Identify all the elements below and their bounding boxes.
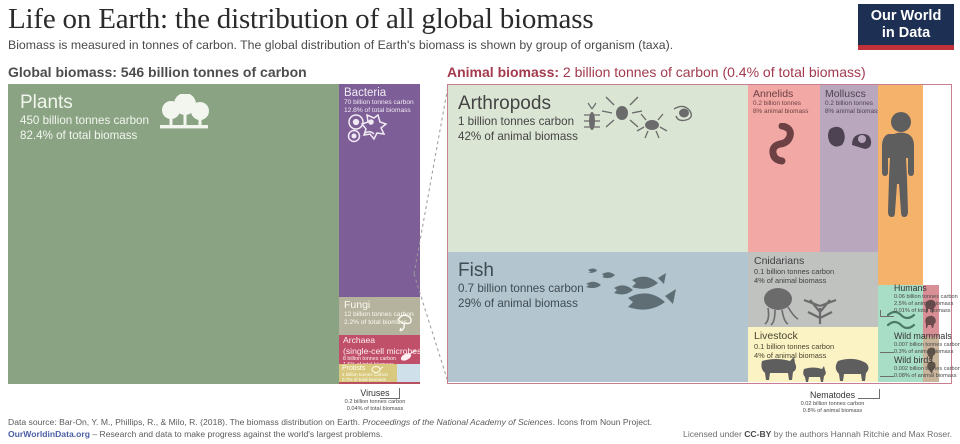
callout-share2-humans: 0.01% of total biomass [894,308,951,314]
global-biomass-heading: Global biomass: 546 billion tonnes of ca… [8,64,307,80]
treemap-cell-viruses-bar [339,382,420,384]
animal-heading-bold: Animal biomass: [447,64,559,80]
callout-share-viruses: 0.04% of total biomass [347,406,404,412]
animal-biomass-heading: Animal biomass: 2 billion tonnes of carb… [447,64,866,80]
footer-icons-credit: . Icons from Noun Project. [553,417,652,427]
owid-website-link[interactable]: OurWorldinData.org [8,429,90,439]
cell-label-protists: Protists [342,365,397,372]
global-biomass-treemap: Plants 450 billion tonnes carbon 82.4% o… [8,84,420,384]
footer-tagline: – Research and data to make progress aga… [90,429,383,439]
callout-viruses: Viruses 0.2 billion tonnes carbon 0.04% … [300,388,450,413]
callout-label-wild-mammals: Wild mammals [894,331,960,342]
leader-line-wild-birds [880,376,894,377]
treemap-cell-protists[interactable]: Protists 4 billion tonnes carbon 0.7% of… [339,364,397,382]
callout-wild-birds: Wild birds 0.002 billion tonnes carbon 0… [894,355,960,380]
treemap-cell-fish[interactable]: Fish 0.7 billion tonnes carbon 29% of an… [448,252,748,382]
callout-share-humans: 2.5% of animal biomass [894,301,953,307]
arthropods-icon [576,93,696,143]
treemap-cell-livestock[interactable]: Livestock 0.1 billion tonnes carbon 4% o… [748,327,878,382]
cell-label-archaea: Archaea [343,336,420,346]
protist-icon [371,365,384,374]
cell-share-molluscs: 8% animal biomass [825,108,878,116]
treemap-cell-archaea[interactable]: Archaea (single-cell microbes) 8 billion… [339,335,420,364]
footer-source-line: Data source: Bar-On, Y. M., Phillips, R.… [8,416,952,428]
footer-journal-name: Proceedings of the National Academy of S… [362,417,552,427]
callout-label-humans: Humans [894,283,958,294]
worm-icon [762,123,802,167]
cell-label-cnidarians: Cnidarians [754,255,878,267]
callout-value-viruses: 0.2 billion tonnes carbon [345,399,406,405]
leader-line-humans-h [880,316,894,317]
logo-line-1: Our World [871,8,942,24]
livestock-icon [756,353,874,382]
callout-wild-mammals: Wild mammals 0.007 billion tonnes carbon… [894,331,960,356]
cell-label-livestock: Livestock [754,330,878,342]
treemap-cell-cnidarians[interactable]: Cnidarians 0.1 billion tonnes carbon 4% … [748,252,878,327]
license-type[interactable]: CC-BY [744,429,771,439]
callout-humans: Humans 0.06 billion tonnes carbon 2.5% o… [894,283,958,314]
license-authors: by the authors Hannah Ritchie and Max Ro… [771,429,952,439]
leader-line-humans-v [880,310,881,317]
mollusc-snail-icon [826,123,874,151]
treemap-cell-plants[interactable]: Plants 450 billion tonnes carbon 82.4% o… [8,84,339,384]
leader-line-nematodes-h [858,398,880,399]
footer-license: Licensed under CC-BY by the authors Hann… [683,428,952,440]
cell-label-bacteria: Bacteria [344,87,420,99]
page-subtitle: Biomass is measured in tonnes of carbon.… [8,37,952,53]
callout-label-viruses: Viruses [300,388,450,399]
callout-share-wild-birds: 0.08% of animal biomass [894,373,957,379]
cell-value-livestock: 0.1 billion tonnes carbon [754,342,878,351]
page-title: Life on Earth: the distribution of all g… [8,2,952,36]
leader-line-viruses-h [380,398,400,399]
cell-value-cnidarians: 0.1 billion tonnes carbon [754,267,878,276]
callout-label-wild-birds: Wild birds [894,355,960,366]
human-figure-icon [882,109,920,239]
treemap-cell-humans[interactable] [878,85,923,285]
license-prefix: Licensed under [683,429,744,439]
callout-share-nematodes: 0.8% of animal biomass [803,408,862,414]
callout-value-wild-mammals: 0.007 billion tonnes carbon [894,342,960,348]
our-world-in-data-logo[interactable]: Our World in Data [858,4,954,50]
cell-value-molluscs: 0.2 billion tonnes [825,100,878,108]
callout-label-nematodes: Nematodes [745,390,920,401]
header: Life on Earth: the distribution of all g… [8,2,952,62]
callout-value-wild-birds: 0.002 billion tonnes carbon [894,366,960,372]
cell-share-cnidarians: 4% of animal biomass [754,276,878,285]
callout-share-wild-mammals: 0.3% of animal biomass [894,349,953,355]
footer: Data source: Bar-On, Y. M., Phillips, R.… [8,416,952,440]
animal-biomass-treemap: Arthropods 1 billion tonnes carbon 42% o… [447,84,952,384]
animal-heading-rest: 2 billion tonnes of carbon (0.4% of tota… [559,64,866,80]
bacteria-icon [345,111,389,145]
cell-label-annelids: Annelids [753,88,820,100]
leader-line-viruses-v [399,388,400,398]
footer-source-text: Data source: Bar-On, Y. M., Phillips, R.… [8,417,362,427]
trees-icon [156,94,212,138]
callout-value-humans: 0.06 billion tonnes carbon [894,294,958,300]
cell-label-molluscs: Molluscs [825,88,878,100]
cell-value-bacteria: 70 billion tonnes carbon [344,99,420,107]
cell-value-annelids: 0.2 billion tonnes [753,100,820,108]
cell-label-fungi: Fungi [344,299,420,311]
treemap-cell-fungi[interactable]: Fungi 12 billion tonnes carbon 2.2% of t… [339,297,420,335]
leader-line-nematodes-v [879,389,880,398]
callout-nematodes: Nematodes 0.02 billion tonnes carbon 0.8… [745,390,920,415]
cell-share-annelids: 8% animal biomass [753,108,820,116]
leader-line-wild-mammals [880,352,894,353]
panel-connector [412,84,452,384]
treemap-cell-bacteria[interactable]: Bacteria 70 billion tonnes carbon 12.8% … [339,84,420,297]
jellyfish-coral-icon [758,286,850,326]
fish-icon [584,262,684,314]
callout-value-nematodes: 0.02 billion tonnes carbon [801,401,865,407]
logo-line-2: in Data [882,25,930,41]
treemap-cell-arthropods[interactable]: Arthropods 1 billion tonnes carbon 42% o… [448,85,748,252]
